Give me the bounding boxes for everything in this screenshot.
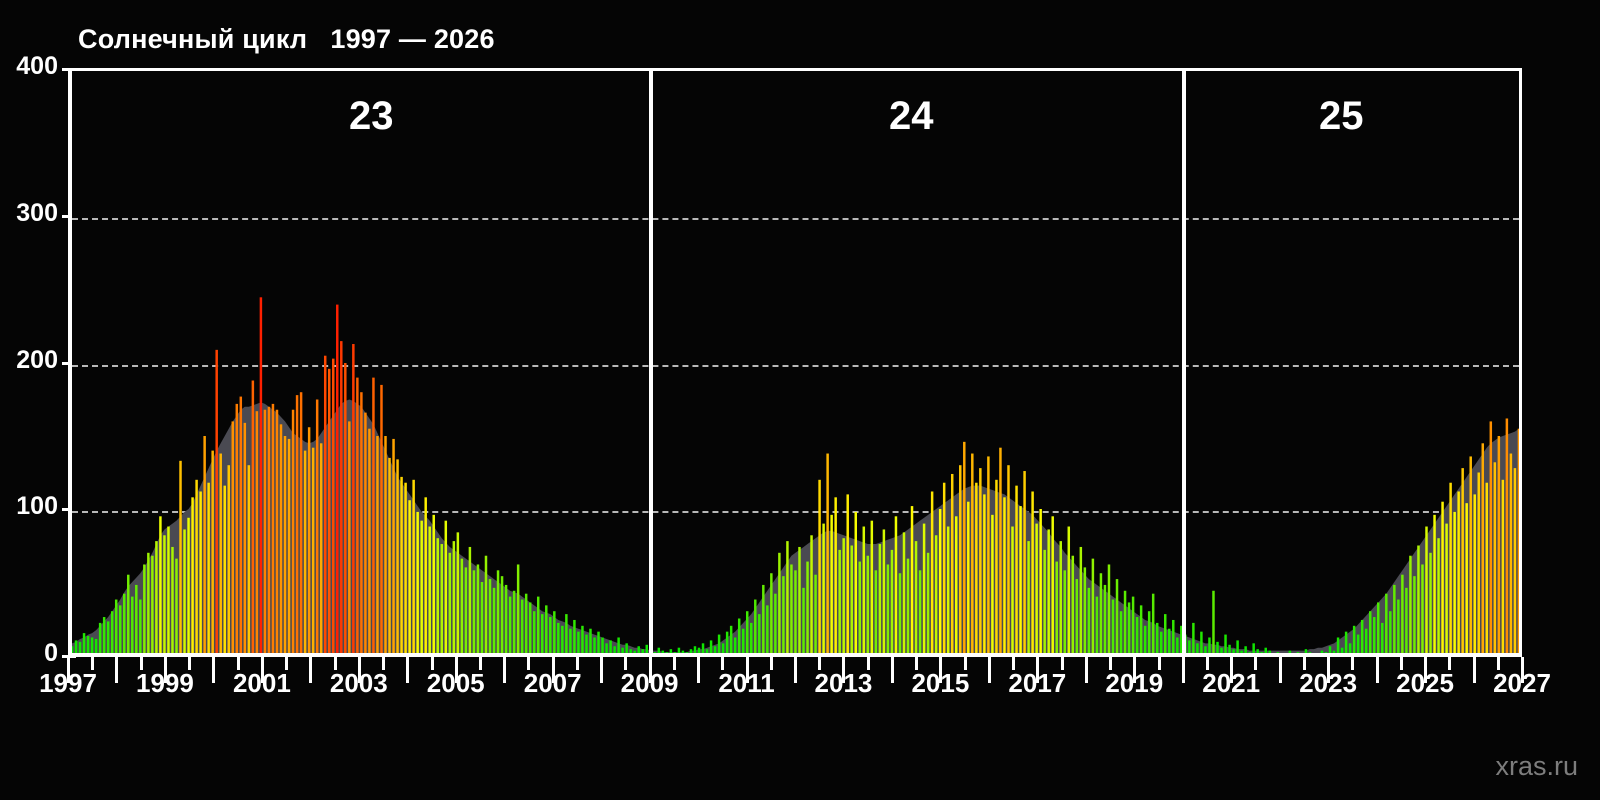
bar xyxy=(1084,567,1086,655)
bar xyxy=(219,454,221,655)
bar xyxy=(959,465,961,655)
x-tick-label-2009: 2009 xyxy=(621,668,679,699)
bar xyxy=(1381,623,1383,655)
bar xyxy=(1039,509,1041,655)
bar xyxy=(802,588,804,655)
x-tick-label-2023: 2023 xyxy=(1299,668,1357,699)
bar xyxy=(1168,629,1170,655)
y-tick-label-0: 0 xyxy=(0,639,58,668)
bar xyxy=(1027,541,1029,655)
bar xyxy=(979,468,981,655)
bar xyxy=(352,344,354,655)
bar xyxy=(597,632,599,655)
bar xyxy=(517,564,519,655)
bar xyxy=(123,594,125,655)
x-tick-major xyxy=(212,657,215,683)
bar xyxy=(183,529,185,655)
x-tick-label-2005: 2005 xyxy=(427,668,485,699)
bar xyxy=(1345,632,1347,655)
bar xyxy=(400,477,402,655)
bar xyxy=(927,553,929,655)
bar xyxy=(392,439,394,655)
bar xyxy=(1064,570,1066,655)
bar xyxy=(935,535,937,655)
bar xyxy=(975,483,977,655)
bar xyxy=(549,617,551,655)
bar xyxy=(798,547,800,655)
x-tick-major xyxy=(794,657,797,683)
bar xyxy=(372,378,374,655)
bar xyxy=(1413,576,1415,655)
bar xyxy=(308,427,310,655)
bar xyxy=(348,421,350,655)
bar xyxy=(762,585,764,655)
cycle-divider-2 xyxy=(1182,71,1186,655)
bar xyxy=(971,454,973,655)
bar xyxy=(107,621,109,655)
bar xyxy=(513,591,515,655)
bar xyxy=(320,443,322,655)
bar xyxy=(1212,591,1214,655)
bar xyxy=(1457,491,1459,655)
bar xyxy=(489,579,491,655)
cycle-label-24: 24 xyxy=(889,94,934,139)
bar xyxy=(428,527,430,655)
bar xyxy=(995,480,997,655)
bar xyxy=(947,527,949,655)
bar xyxy=(1035,524,1037,655)
bar xyxy=(1357,635,1359,655)
bar xyxy=(493,588,495,655)
bar xyxy=(497,570,499,655)
bar xyxy=(1425,527,1427,655)
bar xyxy=(891,550,893,655)
bar xyxy=(240,397,242,655)
bar xyxy=(1051,516,1053,655)
bar xyxy=(867,556,869,655)
bar xyxy=(553,611,555,655)
bar xyxy=(1469,456,1471,655)
bar xyxy=(850,546,852,655)
bar xyxy=(167,527,169,655)
bar xyxy=(1100,573,1102,655)
bar xyxy=(384,436,386,655)
bar xyxy=(943,483,945,655)
x-tick-major xyxy=(988,657,991,683)
bar xyxy=(822,524,824,655)
bar xyxy=(730,626,732,655)
y-tick-label-300: 300 xyxy=(0,199,58,228)
bar xyxy=(1482,443,1484,655)
bar xyxy=(750,623,752,655)
x-tick-major xyxy=(1279,657,1282,683)
bar xyxy=(256,411,258,655)
bar xyxy=(786,541,788,655)
bar xyxy=(441,544,443,655)
bar xyxy=(1409,556,1411,655)
bar xyxy=(280,424,282,655)
bar xyxy=(505,585,507,655)
bar xyxy=(1224,635,1226,655)
x-tick-label-2013: 2013 xyxy=(815,668,873,699)
bar xyxy=(842,538,844,655)
bar xyxy=(1019,506,1021,655)
bar xyxy=(332,359,334,655)
bar xyxy=(127,575,129,655)
bar xyxy=(983,494,985,655)
x-tick-major xyxy=(115,657,118,683)
bar xyxy=(223,486,225,655)
bar xyxy=(396,459,398,655)
bar xyxy=(883,529,885,655)
bar xyxy=(203,436,205,655)
bar xyxy=(1128,602,1130,655)
x-tick-major xyxy=(503,657,506,683)
bar xyxy=(292,410,294,655)
bar xyxy=(481,582,483,655)
bar xyxy=(1490,421,1492,655)
bar xyxy=(103,617,105,655)
bar xyxy=(408,500,410,655)
bar xyxy=(360,392,362,655)
x-tick-label-2007: 2007 xyxy=(524,668,582,699)
bar xyxy=(923,524,925,655)
bar xyxy=(420,521,422,655)
bar xyxy=(268,407,270,655)
bar xyxy=(545,605,547,655)
bar xyxy=(1112,600,1114,655)
bar xyxy=(585,635,587,655)
bar xyxy=(300,392,302,655)
x-tick-major xyxy=(406,657,409,683)
x-tick-major xyxy=(1376,657,1379,683)
bar xyxy=(525,594,527,655)
bar xyxy=(955,516,957,655)
bar xyxy=(304,451,306,655)
bar xyxy=(179,461,181,655)
bar xyxy=(533,611,535,655)
bar xyxy=(424,497,426,655)
x-tick-label-2001: 2001 xyxy=(233,668,291,699)
bar xyxy=(1389,611,1391,655)
bar xyxy=(195,480,197,655)
bar xyxy=(818,480,820,655)
bar xyxy=(1152,594,1154,655)
bar xyxy=(742,629,744,655)
bar xyxy=(232,421,234,655)
bar xyxy=(718,635,720,655)
bar xyxy=(163,535,165,655)
bar xyxy=(907,559,909,655)
bar xyxy=(758,614,760,655)
bar xyxy=(1047,529,1049,655)
bar xyxy=(778,553,780,655)
bar xyxy=(999,448,1001,655)
bar xyxy=(1015,486,1017,655)
bar xyxy=(416,512,418,655)
bar xyxy=(1445,524,1447,655)
x-tick-label-2011: 2011 xyxy=(718,668,774,699)
bar xyxy=(766,605,768,655)
y-tick-label-200: 200 xyxy=(0,346,58,375)
bar xyxy=(565,614,567,655)
bar xyxy=(1108,564,1110,655)
bar xyxy=(272,404,274,655)
bar xyxy=(855,512,857,655)
bar xyxy=(316,400,318,655)
bar xyxy=(1031,491,1033,655)
y-tick-label-400: 400 xyxy=(0,52,58,81)
bar xyxy=(1096,597,1098,655)
bar xyxy=(577,632,579,655)
bar xyxy=(412,480,414,655)
bar xyxy=(834,497,836,655)
bar xyxy=(461,559,463,655)
bar xyxy=(143,564,145,655)
x-tick-label-2027: 2027 xyxy=(1493,668,1551,699)
bar xyxy=(1092,559,1094,655)
bar xyxy=(875,570,877,655)
x-tick-label-1999: 1999 xyxy=(136,668,194,699)
x-tick-label-2021: 2021 xyxy=(1202,668,1260,699)
bar xyxy=(469,547,471,655)
bar xyxy=(207,483,209,655)
bar xyxy=(457,532,459,655)
bar xyxy=(453,541,455,655)
bar xyxy=(509,597,511,655)
bar xyxy=(887,564,889,655)
x-tick-label-2019: 2019 xyxy=(1105,668,1163,699)
bar xyxy=(1124,591,1126,655)
bar xyxy=(1007,465,1009,655)
bar xyxy=(1140,605,1142,655)
bar xyxy=(871,521,873,655)
bar xyxy=(1116,579,1118,655)
bar xyxy=(211,451,213,655)
bar xyxy=(1104,585,1106,655)
bar xyxy=(790,564,792,655)
bar xyxy=(1433,515,1435,655)
bar xyxy=(477,564,479,655)
bar xyxy=(248,465,250,655)
bar xyxy=(260,297,262,655)
bar xyxy=(987,456,989,655)
bar xyxy=(967,502,969,655)
bar xyxy=(1043,550,1045,655)
x-tick-major xyxy=(1085,657,1088,683)
bar xyxy=(388,458,390,655)
bar xyxy=(147,553,149,655)
bar xyxy=(561,626,563,655)
bar xyxy=(151,556,153,655)
bar xyxy=(991,515,993,655)
bar xyxy=(312,448,314,655)
bars-layer xyxy=(72,71,1519,655)
bar xyxy=(895,516,897,655)
bar xyxy=(115,600,117,655)
bar xyxy=(911,506,913,655)
plot-area xyxy=(68,68,1522,655)
bar xyxy=(1200,632,1202,655)
bar xyxy=(336,305,338,655)
y-tick-label-100: 100 xyxy=(0,492,58,521)
x-tick-label-1997: 1997 xyxy=(39,668,97,699)
bar xyxy=(276,410,278,655)
bar xyxy=(1461,468,1463,655)
bar xyxy=(1072,556,1074,655)
bar xyxy=(328,369,330,655)
bar xyxy=(838,550,840,655)
bar xyxy=(806,562,808,655)
bar xyxy=(1437,538,1439,655)
bar xyxy=(1076,579,1078,655)
bar xyxy=(746,611,748,655)
bar xyxy=(814,575,816,655)
bar xyxy=(859,562,861,655)
bar xyxy=(1486,483,1488,655)
bar xyxy=(963,442,965,655)
bar xyxy=(1449,483,1451,655)
bar xyxy=(1369,611,1371,655)
solar-cycle-chart: Солнечный цикл 1997 — 2026 0100200300400… xyxy=(0,0,1600,800)
bar xyxy=(139,600,141,655)
bar xyxy=(1132,597,1134,655)
bar xyxy=(191,497,193,655)
x-tick-label-2025: 2025 xyxy=(1396,668,1454,699)
bar xyxy=(899,573,901,655)
bar xyxy=(1510,454,1512,655)
bar xyxy=(1068,527,1070,655)
cycle-label-25: 25 xyxy=(1319,94,1364,139)
bar xyxy=(171,547,173,655)
monthly-bars xyxy=(72,297,1519,655)
bar xyxy=(1465,503,1467,655)
bar xyxy=(284,436,286,655)
bar xyxy=(738,618,740,655)
bar xyxy=(1011,527,1013,655)
bar xyxy=(1429,553,1431,655)
bar xyxy=(432,515,434,655)
x-tick-major xyxy=(600,657,603,683)
bar xyxy=(135,585,137,655)
bar xyxy=(1148,611,1150,655)
bar xyxy=(919,570,921,655)
x-tick-major xyxy=(1182,657,1185,683)
bar xyxy=(1353,626,1355,655)
bar xyxy=(1498,436,1500,655)
bar xyxy=(1401,575,1403,655)
bar xyxy=(244,423,246,655)
bar xyxy=(445,521,447,655)
bar xyxy=(770,573,772,655)
bar xyxy=(228,465,230,655)
bar xyxy=(1373,617,1375,655)
bar xyxy=(1136,617,1138,655)
bar xyxy=(1172,620,1174,655)
bar xyxy=(782,576,784,655)
bar xyxy=(754,600,756,655)
bar xyxy=(1397,600,1399,655)
bar xyxy=(863,527,865,655)
bar xyxy=(99,623,101,655)
bar xyxy=(364,413,366,655)
x-tick-major xyxy=(891,657,894,683)
bar xyxy=(537,597,539,655)
bar xyxy=(119,605,121,655)
bar xyxy=(1160,632,1162,655)
bar xyxy=(404,483,406,655)
x-tick-label-2003: 2003 xyxy=(330,668,388,699)
bar xyxy=(380,385,382,655)
x-tick-major xyxy=(1473,657,1476,683)
bar xyxy=(1506,418,1508,655)
bar xyxy=(794,570,796,655)
bar xyxy=(236,404,238,655)
bar xyxy=(1080,547,1082,655)
bar xyxy=(1393,585,1395,655)
bar xyxy=(473,570,475,655)
bar xyxy=(1059,541,1061,655)
bar xyxy=(1421,564,1423,655)
bar xyxy=(529,602,531,655)
bar xyxy=(589,629,591,655)
bar xyxy=(569,629,571,655)
bar xyxy=(376,436,378,655)
bar xyxy=(296,395,298,655)
bar xyxy=(155,541,157,655)
bar xyxy=(541,614,543,655)
bar xyxy=(449,553,451,655)
bar xyxy=(1003,497,1005,655)
bar xyxy=(846,494,848,655)
bar xyxy=(1453,512,1455,655)
bar xyxy=(1473,494,1475,655)
bar xyxy=(1164,614,1166,655)
bar xyxy=(557,623,559,655)
bar xyxy=(111,611,113,655)
bar xyxy=(1144,626,1146,655)
bar xyxy=(324,356,326,655)
bar xyxy=(1494,462,1496,655)
bar xyxy=(1088,588,1090,655)
bar xyxy=(288,439,290,655)
bar xyxy=(1361,620,1363,655)
watermark: xras.ru xyxy=(1495,751,1578,782)
bar xyxy=(368,429,370,655)
bar xyxy=(1055,562,1057,655)
bar xyxy=(437,538,439,655)
bar xyxy=(1377,602,1379,655)
x-tick-major xyxy=(309,657,312,683)
bar xyxy=(726,632,728,655)
bar xyxy=(199,491,201,655)
bar xyxy=(1120,611,1122,655)
bar xyxy=(264,410,266,655)
bar xyxy=(344,363,346,655)
bar xyxy=(356,378,358,655)
bar xyxy=(1441,502,1443,655)
bar xyxy=(774,594,776,655)
bar xyxy=(826,454,828,655)
bar xyxy=(215,350,217,655)
bar xyxy=(187,518,189,655)
bar xyxy=(581,626,583,655)
bar xyxy=(175,559,177,655)
bar xyxy=(83,633,85,655)
bar xyxy=(1385,594,1387,655)
bar xyxy=(879,544,881,655)
bar xyxy=(1156,623,1158,655)
